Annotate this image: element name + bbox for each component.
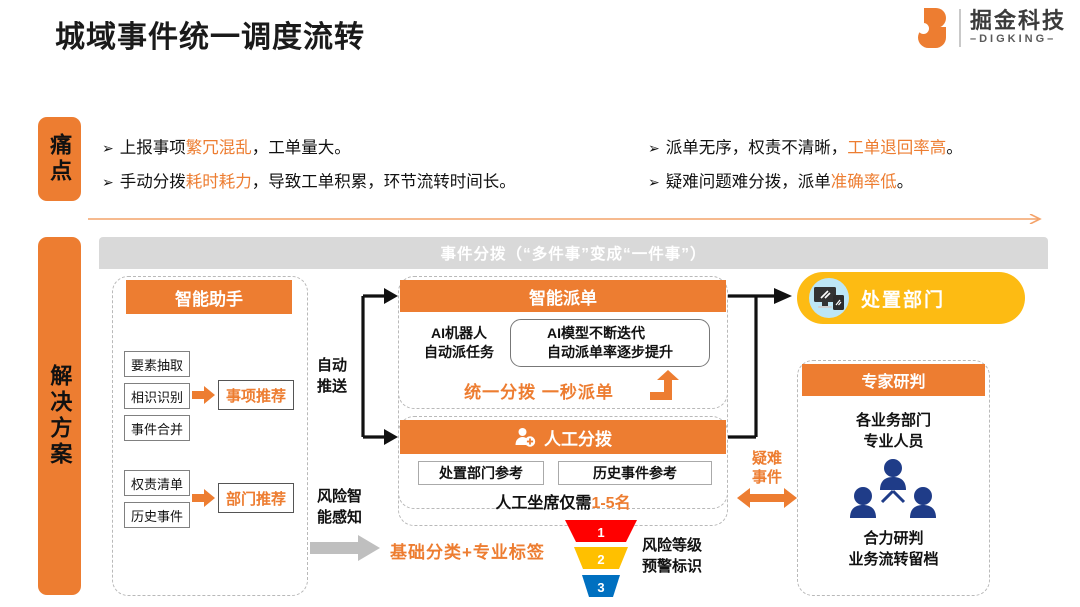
risk-sense-label: 风险智能感知 xyxy=(317,486,371,528)
ai-model-pill: AI模型不断迭代自动派单率逐步提升 xyxy=(510,319,710,367)
dispatch-department-pill: 处置部门 xyxy=(797,272,1025,324)
flow-banner: 事件分拨（“多件事”变成“一件事”） xyxy=(99,237,1048,269)
bullet-arrow-icon: ➢ xyxy=(102,131,114,165)
assistant-input-box: 权责清单 xyxy=(124,470,190,496)
assistant-input-box: 要素抽取 xyxy=(124,351,190,377)
assistant-input-box: 历史事件 xyxy=(124,502,190,528)
painpoint-list-left: ➢ 上报事项繁冗混乱，工单量大。 ➢ 手动分拨耗时耗力，导致工单积累，环节流转时… xyxy=(102,131,516,199)
painpoint-item: ➢ 派单无序，权责不清晰，工单退回率高。 xyxy=(648,131,963,165)
funnel-caption: 风险等级预警标识 xyxy=(642,535,702,577)
funnel-level-2-label: 2 xyxy=(597,552,604,567)
assistant-arrow-1-icon xyxy=(192,385,216,405)
manual-dispatch-title: 人工分拨 xyxy=(400,420,726,454)
expert-top-text: 各业务部门专业人员 xyxy=(797,410,990,452)
bullet-arrow-icon: ➢ xyxy=(648,165,660,199)
painpoint-item: ➢ 上报事项繁冗混乱，工单量大。 xyxy=(102,131,516,165)
bullet-arrow-icon: ➢ xyxy=(648,131,660,165)
logo-english-name: –DIGKING– xyxy=(970,32,1066,47)
expert-panel-title: 专家研判 xyxy=(802,364,985,396)
ai-robot-text: AI机器人自动派任务 xyxy=(412,324,506,362)
three-people-icon xyxy=(847,458,939,526)
assistant-output-dept-recommend: 部门推荐 xyxy=(218,483,294,513)
page-title: 城域事件统一调度流转 xyxy=(55,12,365,56)
painpoint-tab: 痛点 xyxy=(38,117,81,201)
section-divider-arrow xyxy=(88,214,1048,224)
painpoint-item: ➢ 疑难问题难分拨，派单准确率低。 xyxy=(648,165,963,199)
assistant-arrow-2-icon xyxy=(192,488,216,508)
painpoint-item: ➢ 手动分拨耗时耗力，导致工单积累，环节流转时间长。 xyxy=(102,165,516,199)
logo-chinese-name: 掘金科技 xyxy=(970,9,1066,32)
assistant-input-box: 相识识别 xyxy=(124,383,190,409)
assistant-output-item-recommend: 事项推荐 xyxy=(218,380,294,410)
risk-level-funnel: 1 2 3 xyxy=(565,520,637,600)
painpoint-list-right: ➢ 派单无序，权责不清晰，工单退回率高。 ➢ 疑难问题难分拨，派单准确率低。 xyxy=(648,131,963,199)
rising-arrow-icon xyxy=(650,370,680,400)
double-arrow-icon xyxy=(737,487,797,509)
manual-ref-box: 处置部门参考 xyxy=(418,461,544,485)
digking-d-mark-icon xyxy=(916,8,950,48)
manual-ref-box: 历史事件参考 xyxy=(558,461,712,485)
base-class-label: 基础分类+专业标签 xyxy=(390,538,545,563)
dispatch-department-label: 处置部门 xyxy=(861,285,945,312)
funnel-level-3-label: 3 xyxy=(597,580,604,595)
unified-dispatch-highlight: 统一分拨 一秒派单 xyxy=(424,378,654,403)
brand-logo: 掘金科技 –DIGKING– xyxy=(916,8,1066,48)
expert-bottom-text: 合力研判业务流转留档 xyxy=(797,528,990,570)
solution-tab: 解决方案 xyxy=(38,237,81,595)
monitor-tablet-icon xyxy=(809,278,849,318)
bullet-arrow-icon: ➢ xyxy=(102,165,114,199)
logo-divider xyxy=(959,9,961,47)
auto-push-label: 自动推送 xyxy=(317,355,371,397)
person-add-icon xyxy=(514,426,536,448)
manual-seat-count: 人工坐席仅需1-5名 xyxy=(398,489,728,513)
difficult-event-label: 疑难事件 xyxy=(745,449,789,487)
painpoint-tab-label: 痛点 xyxy=(47,133,72,185)
funnel-level-1-label: 1 xyxy=(597,525,604,540)
assistant-input-box: 事件合并 xyxy=(124,415,190,441)
manual-dispatch-label: 人工分拨 xyxy=(544,425,612,450)
assistant-card-title: 智能助手 xyxy=(126,280,292,314)
gray-flow-arrow-icon xyxy=(310,535,380,561)
solution-tab-label: 解决方案 xyxy=(45,364,75,468)
smart-dispatch-title: 智能派单 xyxy=(400,280,726,312)
